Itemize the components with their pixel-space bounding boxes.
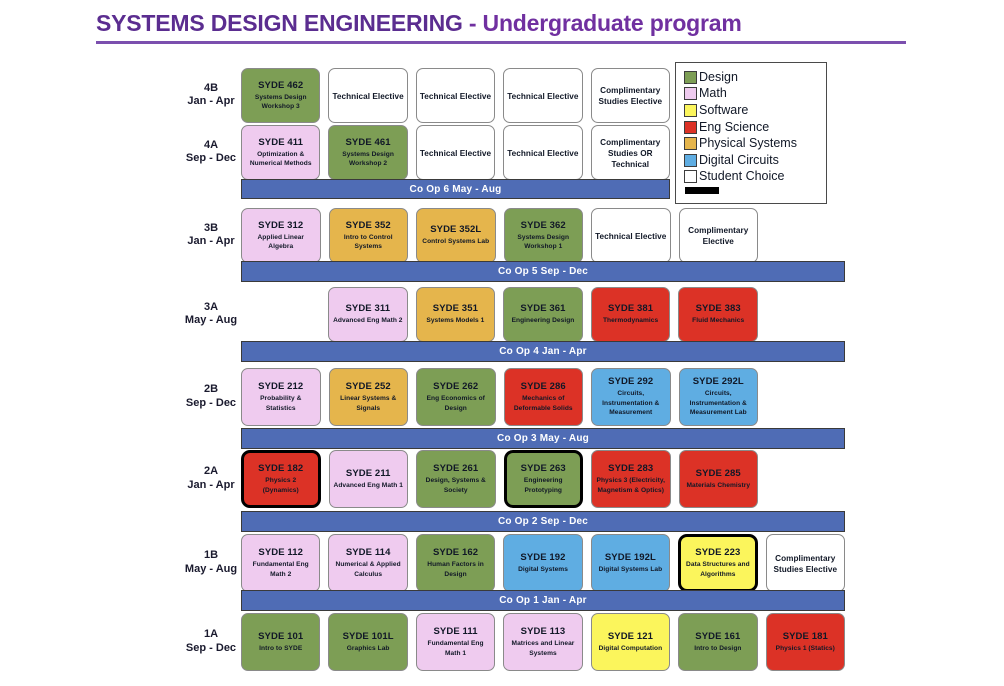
course-box[interactable]: SYDE 292Circuits, Instrumentation & Meas… — [591, 368, 671, 426]
course-box[interactable]: SYDE 383Fluid Mechanics — [678, 287, 758, 342]
coop-term-bar[interactable]: Co Op 3 May - Aug — [241, 428, 845, 449]
course-code: SYDE 286 — [521, 381, 566, 393]
course-title: Eng Economics of Design — [420, 394, 492, 413]
course-code: SYDE 362 — [521, 220, 566, 232]
course-box[interactable]: SYDE 283Physics 3 (Electricity, Magnetis… — [591, 450, 671, 508]
course-code: SYDE 292 — [608, 376, 653, 388]
course-box[interactable]: Technical Elective — [416, 68, 495, 123]
course-box[interactable]: SYDE 212Probability & Statistics — [241, 368, 321, 426]
coop-term-bar[interactable]: Co Op 4 Jan - Apr — [241, 341, 845, 362]
legend-item: Math — [684, 86, 826, 103]
course-box[interactable]: SYDE 351Systems Models 1 — [416, 287, 496, 342]
course-box[interactable]: SYDE 352Intro to Control Systems — [329, 208, 409, 263]
legend-swatch-icon — [684, 104, 697, 117]
course-code: SYDE 192L — [605, 552, 656, 564]
course-title: Complimentary Studies Elective — [770, 553, 841, 575]
course-box[interactable]: SYDE 223Data Structures and Algorithms — [678, 534, 757, 592]
course-title: Digital Computation — [599, 644, 663, 653]
course-code: SYDE 285 — [696, 468, 741, 480]
course-box[interactable]: SYDE 192Digital Systems — [503, 534, 582, 592]
course-title: Human Factors in Design — [420, 560, 491, 579]
course-title: Circuits, Instrumentation & Measurement … — [683, 389, 755, 417]
course-box[interactable]: SYDE 461Systems Design Workshop 2 — [328, 125, 407, 180]
course-box[interactable]: SYDE 381Thermodynamics — [591, 287, 671, 342]
course-code: SYDE 111 — [433, 626, 477, 638]
legend-item: Digital Circuits — [684, 152, 826, 169]
term-code: 3A — [168, 301, 254, 315]
course-title: Matrices and Linear Systems — [507, 639, 578, 658]
legend-highlight-bar-icon — [685, 187, 719, 194]
course-title: Fluid Mechanics — [692, 316, 744, 325]
course-code: SYDE 361 — [520, 303, 565, 315]
course-box[interactable]: SYDE 161Intro to Design — [678, 613, 757, 671]
course-title: Technical Elective — [420, 91, 491, 102]
course-box[interactable]: SYDE 252Linear Systems & Signals — [329, 368, 409, 426]
course-code: SYDE 101L — [343, 631, 394, 643]
legend-swatch-icon — [684, 87, 697, 100]
legend-item: Physical Systems — [684, 135, 826, 152]
course-box[interactable]: SYDE 162Human Factors in Design — [416, 534, 495, 592]
course-box[interactable]: SYDE 121Digital Computation — [591, 613, 670, 671]
course-title: Intro to Design — [694, 644, 741, 653]
legend-swatch-icon — [684, 71, 697, 84]
course-title: Digital Systems — [518, 565, 568, 574]
coop-term-bar[interactable]: Co Op 2 Sep - Dec — [241, 511, 845, 532]
course-box[interactable]: SYDE 182Physics 2 (Dynamics) — [241, 450, 321, 508]
course-title: Thermodynamics — [603, 316, 658, 325]
course-box[interactable]: Complimentary Studies OR Technical — [591, 125, 670, 180]
course-box[interactable]: SYDE 292LCircuits, Instrumentation & Mea… — [679, 368, 759, 426]
course-box[interactable]: SYDE 361Engineering Design — [503, 287, 583, 342]
course-box[interactable]: SYDE 311Advanced Eng Math 2 — [328, 287, 408, 342]
course-code: SYDE 211 — [346, 468, 391, 480]
term-months: May - Aug — [168, 314, 254, 328]
course-title: Complimentary Studies Elective — [595, 85, 666, 107]
course-code: SYDE 312 — [258, 220, 303, 232]
course-box[interactable]: Technical Elective — [591, 208, 671, 263]
course-code: SYDE 162 — [433, 547, 478, 559]
course-title: Technical Elective — [507, 91, 578, 102]
course-title: Control Systems Lab — [422, 237, 489, 246]
course-code: SYDE 352 — [346, 220, 391, 232]
course-title: Data Structures and Algorithms — [684, 560, 751, 579]
course-box[interactable]: SYDE 112Fundamental Eng Math 2 — [241, 534, 320, 592]
course-box[interactable]: SYDE 352LControl Systems Lab — [416, 208, 496, 263]
course-box[interactable]: SYDE 101LGraphics Lab — [328, 613, 407, 671]
legend-item-label: Design — [699, 71, 738, 84]
course-title: Technical Elective — [420, 148, 491, 159]
course-title: Complimentary Studies OR Technical — [595, 137, 666, 170]
course-code: SYDE 114 — [346, 547, 391, 559]
course-title: Advanced Eng Math 2 — [333, 316, 402, 325]
course-title: Intro to Control Systems — [333, 233, 405, 252]
course-box[interactable]: Technical Elective — [503, 68, 582, 123]
course-code: SYDE 263 — [521, 463, 566, 475]
legend-item: Eng Science — [684, 119, 826, 136]
course-title: Systems Design Workshop 3 — [245, 93, 316, 112]
course-title: Engineering Design — [512, 316, 575, 325]
course-title: Physics 2 (Dynamics) — [247, 476, 315, 495]
course-box[interactable]: SYDE 411Optimization & Numerical Methods — [241, 125, 320, 180]
course-box[interactable]: Technical Elective — [328, 68, 407, 123]
legend-item: Design — [684, 69, 826, 86]
course-title: Technical Elective — [332, 91, 403, 102]
course-title: Digital Systems Lab — [599, 565, 663, 574]
course-title: Physics 3 (Electricity, Magnetism & Opti… — [595, 476, 667, 495]
course-title: Graphics Lab — [347, 644, 390, 653]
course-box[interactable]: SYDE 263Engineering Prototyping — [504, 450, 584, 508]
course-box[interactable]: SYDE 111Fundamental Eng Math 1 — [416, 613, 495, 671]
legend-item-label: Software — [699, 104, 748, 117]
course-box[interactable]: SYDE 113Matrices and Linear Systems — [503, 613, 582, 671]
course-box[interactable]: Complimentary Studies Elective — [766, 534, 845, 592]
legend-item-label: Math — [699, 87, 727, 100]
course-box[interactable]: SYDE 285Materials Chemistry — [679, 450, 759, 508]
course-box[interactable]: Technical Elective — [416, 125, 495, 180]
course-code: SYDE 311 — [345, 303, 390, 315]
course-title: Intro to SYDE — [259, 644, 302, 653]
course-code: SYDE 383 — [696, 303, 741, 315]
course-title: Numerical & Applied Calculus — [332, 560, 403, 579]
course-box[interactable]: SYDE 312Applied Linear Algebra — [241, 208, 321, 263]
course-box[interactable]: SYDE 286Mechanics of Deformable Solids — [504, 368, 584, 426]
course-code: SYDE 121 — [608, 631, 653, 643]
course-title: Circuits, Instrumentation & Measurement — [595, 389, 667, 417]
coop-term-bar[interactable]: Co Op 6 May - Aug — [241, 179, 670, 199]
legend-item-label: Student Choice — [699, 170, 784, 183]
course-box[interactable]: SYDE 114Numerical & Applied Calculus — [328, 534, 407, 592]
course-box[interactable]: SYDE 261Design, Systems & Society — [416, 450, 496, 508]
course-title: Physics 1 (Statics) — [776, 644, 835, 653]
legend-item: Student Choice — [684, 169, 826, 186]
course-title: Materials Chemistry — [686, 481, 750, 490]
course-code: SYDE 181 — [783, 631, 828, 643]
course-title: Design, Systems & Society — [420, 476, 492, 495]
course-code: SYDE 351 — [433, 303, 478, 315]
course-title: Optimization & Numerical Methods — [245, 150, 316, 169]
course-box[interactable]: SYDE 181Physics 1 (Statics) — [766, 613, 845, 671]
course-code: SYDE 292L — [693, 376, 744, 388]
course-title: Complimentary Elective — [683, 225, 755, 247]
legend-item-label: Eng Science — [699, 121, 769, 134]
legend-swatch-icon — [684, 154, 697, 167]
course-code: SYDE 161 — [695, 631, 740, 643]
course-title: Probability & Statistics — [245, 394, 317, 413]
course-box[interactable]: SYDE 211Advanced Eng Math 1 — [329, 450, 409, 508]
course-box[interactable]: SYDE 262Eng Economics of Design — [416, 368, 496, 426]
course-box[interactable]: Complimentary Elective — [679, 208, 759, 263]
course-code: SYDE 192 — [520, 552, 565, 564]
course-box[interactable]: SYDE 101Intro to SYDE — [241, 613, 320, 671]
course-code: SYDE 101 — [258, 631, 303, 643]
course-code: SYDE 212 — [258, 381, 303, 393]
legend-swatch-icon — [684, 137, 697, 150]
course-box[interactable]: Complimentary Studies Elective — [591, 68, 670, 123]
course-box[interactable]: SYDE 362Systems Design Workshop 1 — [504, 208, 584, 263]
course-code: SYDE 261 — [433, 463, 478, 475]
course-title: Advanced Eng Math 1 — [334, 481, 403, 490]
course-code: SYDE 462 — [258, 80, 303, 92]
course-code: SYDE 381 — [608, 303, 653, 315]
course-code: SYDE 113 — [521, 626, 566, 638]
course-box[interactable]: Technical Elective — [503, 125, 582, 180]
course-title: Fundamental Eng Math 2 — [245, 560, 316, 579]
course-code: SYDE 352L — [430, 224, 481, 236]
course-code: SYDE 262 — [433, 381, 478, 393]
course-title: Systems Models 1 — [426, 316, 484, 325]
course-box[interactable]: SYDE 192LDigital Systems Lab — [591, 534, 670, 592]
course-title: Technical Elective — [595, 231, 666, 242]
course-title: Linear Systems & Signals — [333, 394, 405, 413]
term-label-3a: 3AMay - Aug — [168, 301, 254, 328]
curriculum-grid: 4BJan - AprSYDE 462Systems Design Worksh… — [0, 0, 1004, 686]
course-title: Technical Elective — [507, 148, 578, 159]
legend-swatch-icon — [684, 121, 697, 134]
course-box[interactable]: SYDE 462Systems Design Workshop 3 — [241, 68, 320, 123]
course-code: SYDE 461 — [346, 137, 391, 149]
course-title: Fundamental Eng Math 1 — [420, 639, 491, 658]
course-title: Engineering Prototyping — [510, 476, 578, 495]
legend-item-label: Physical Systems — [699, 137, 797, 150]
course-code: SYDE 283 — [608, 463, 653, 475]
legend-panel: DesignMathSoftwareEng SciencePhysical Sy… — [675, 62, 827, 204]
course-code: SYDE 112 — [258, 547, 303, 559]
course-title: Systems Design Workshop 1 — [508, 233, 580, 252]
course-title: Applied Linear Algebra — [245, 233, 317, 252]
legend-item-label: Digital Circuits — [699, 154, 779, 167]
course-title: Systems Design Workshop 2 — [332, 150, 403, 169]
course-code: SYDE 223 — [695, 547, 740, 559]
course-title: Mechanics of Deformable Solids — [508, 394, 580, 413]
coop-term-bar[interactable]: Co Op 5 Sep - Dec — [241, 261, 845, 282]
course-code: SYDE 182 — [258, 463, 303, 475]
legend-swatch-icon — [684, 170, 697, 183]
course-code: SYDE 411 — [258, 137, 303, 149]
course-code: SYDE 252 — [346, 381, 391, 393]
program-chart-root: SYSTEMS DESIGN ENGINEERING - Undergradua… — [0, 0, 1004, 686]
coop-term-bar[interactable]: Co Op 1 Jan - Apr — [241, 590, 845, 611]
legend-item: Software — [684, 102, 826, 119]
